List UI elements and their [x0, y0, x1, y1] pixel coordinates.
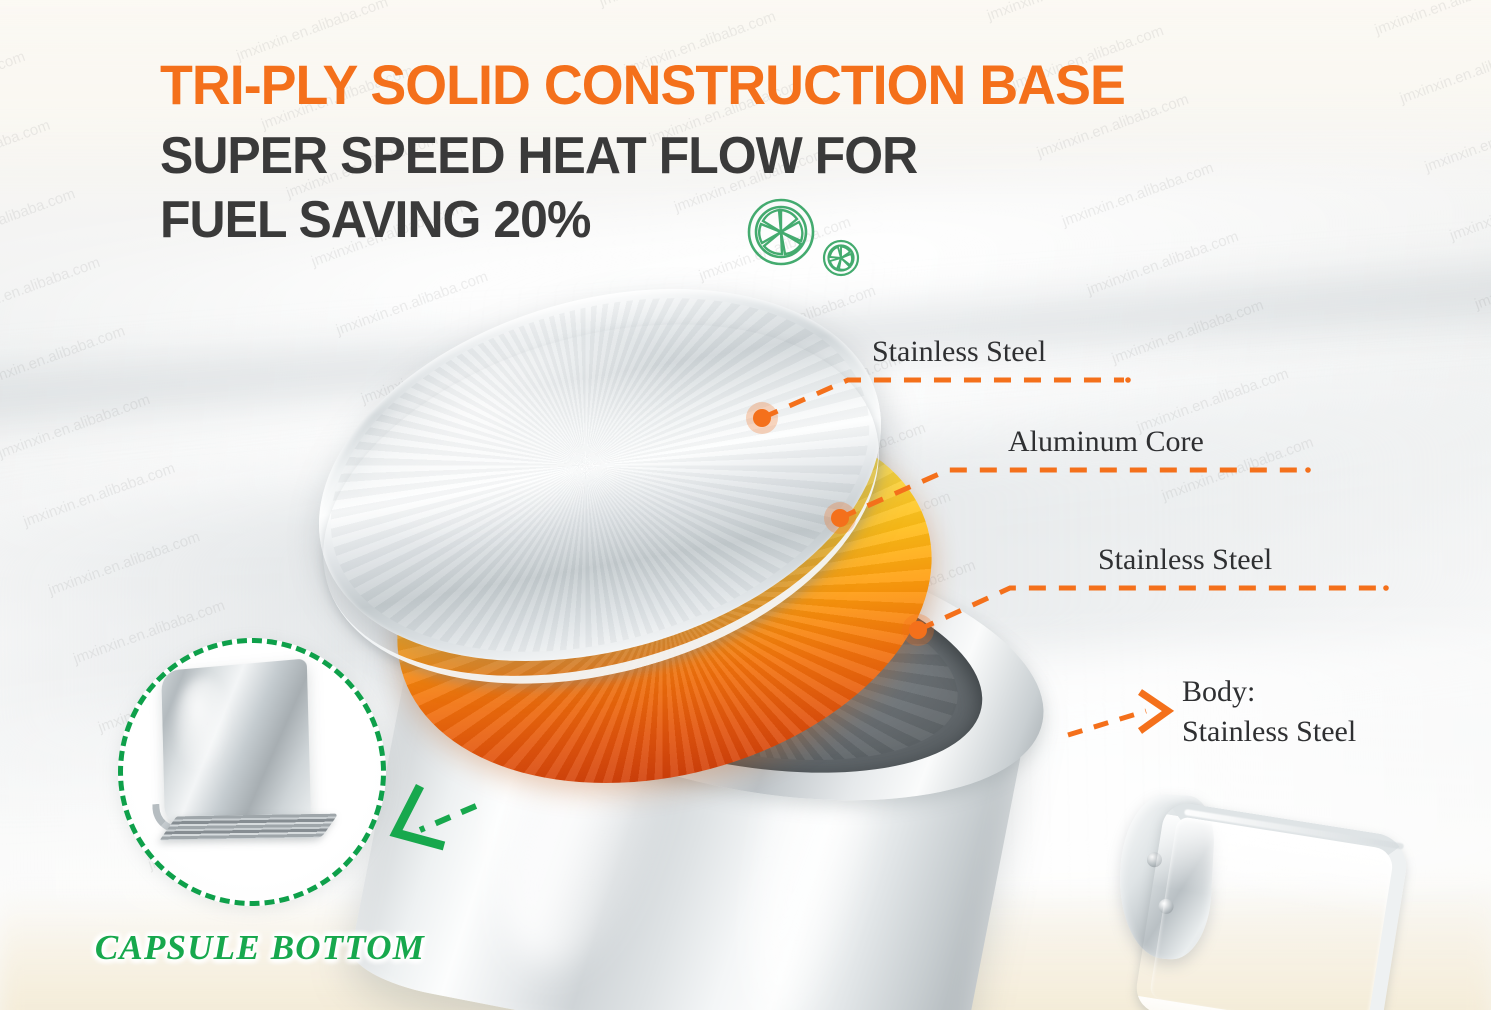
- capsule-layer-stack: [159, 814, 338, 841]
- headline-block: TRI-PLY SOLID CONSTRUCTION BASE SUPER SP…: [160, 56, 1165, 250]
- headline-secondary-line-2: FUEL SAVING 20%: [160, 191, 1125, 249]
- headline-primary: TRI-PLY SOLID CONSTRUCTION BASE: [160, 56, 1125, 113]
- headline-secondary-line-1: SUPER SPEED HEAT FLOW FOR: [160, 127, 1125, 185]
- handle-loop: [1133, 800, 1411, 1010]
- capsule-bottom-caption: CAPSULE BOTTOM: [70, 928, 450, 968]
- capsule-detail-circle: [118, 638, 386, 906]
- lemon-slice-stamp-small-icon: [821, 238, 861, 278]
- lemon-slice-stamp-icon: [745, 196, 817, 268]
- pot-handle: [1133, 800, 1411, 1010]
- infographic-canvas: jmxinxin.en.alibaba.comjmxinxin.en.aliba…: [0, 0, 1491, 1010]
